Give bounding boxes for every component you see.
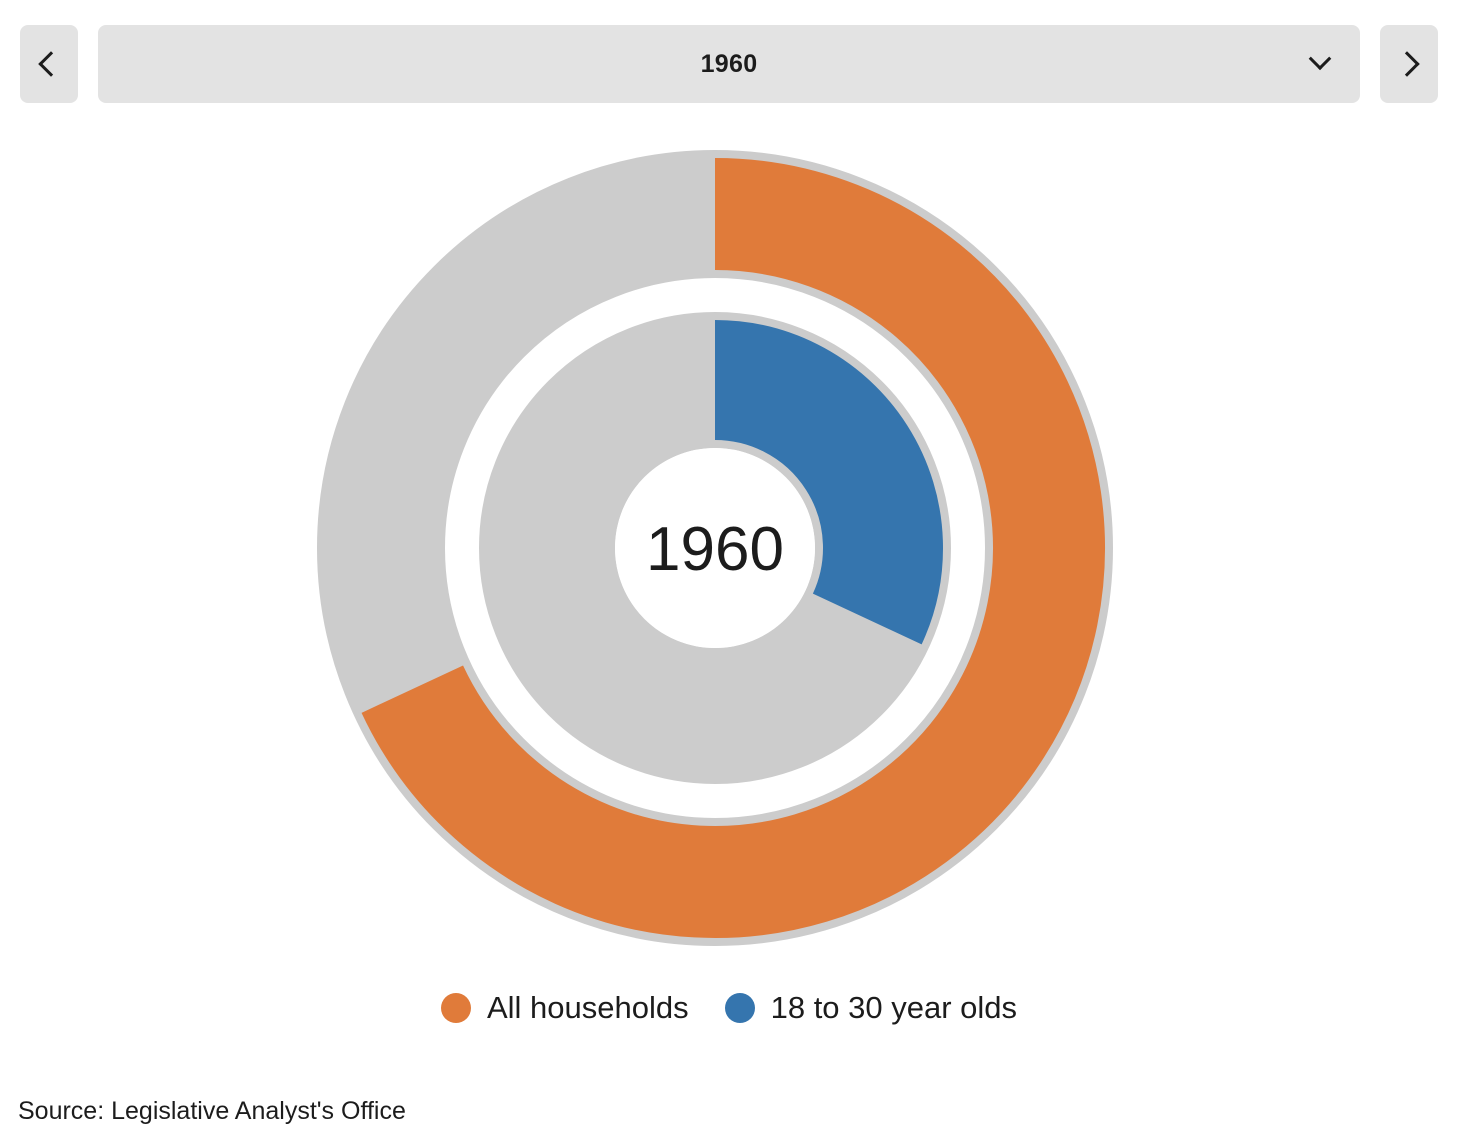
year-select-dropdown[interactable]: 1960 [98,25,1360,103]
chart-area: 1960 [0,128,1458,978]
previous-year-button[interactable] [20,25,78,103]
center-year-label: 1960 [646,515,784,584]
legend-item-18-to-30-year-olds[interactable]: 18 to 30 year olds [725,990,1017,1026]
source-note: Source: Legislative Analyst's Office [18,1097,406,1126]
chart-legend: All households 18 to 30 year olds [0,990,1458,1026]
next-year-button[interactable] [1380,25,1438,103]
legend-swatch-blue [725,993,755,1023]
chevron-down-icon [1312,51,1328,73]
legend-item-all-households[interactable]: All households [441,990,689,1026]
legend-swatch-orange [441,993,471,1023]
chevron-left-icon [38,51,63,76]
year-navigation-bar: 1960 [0,0,1458,128]
nested-donut-chart: 1960 [315,148,1115,948]
year-select-value: 1960 [701,50,758,79]
legend-label-18-to-30-year-olds: 18 to 30 year olds [771,990,1017,1026]
chevron-right-icon [1394,51,1419,76]
legend-label-all-households: All households [487,990,689,1026]
